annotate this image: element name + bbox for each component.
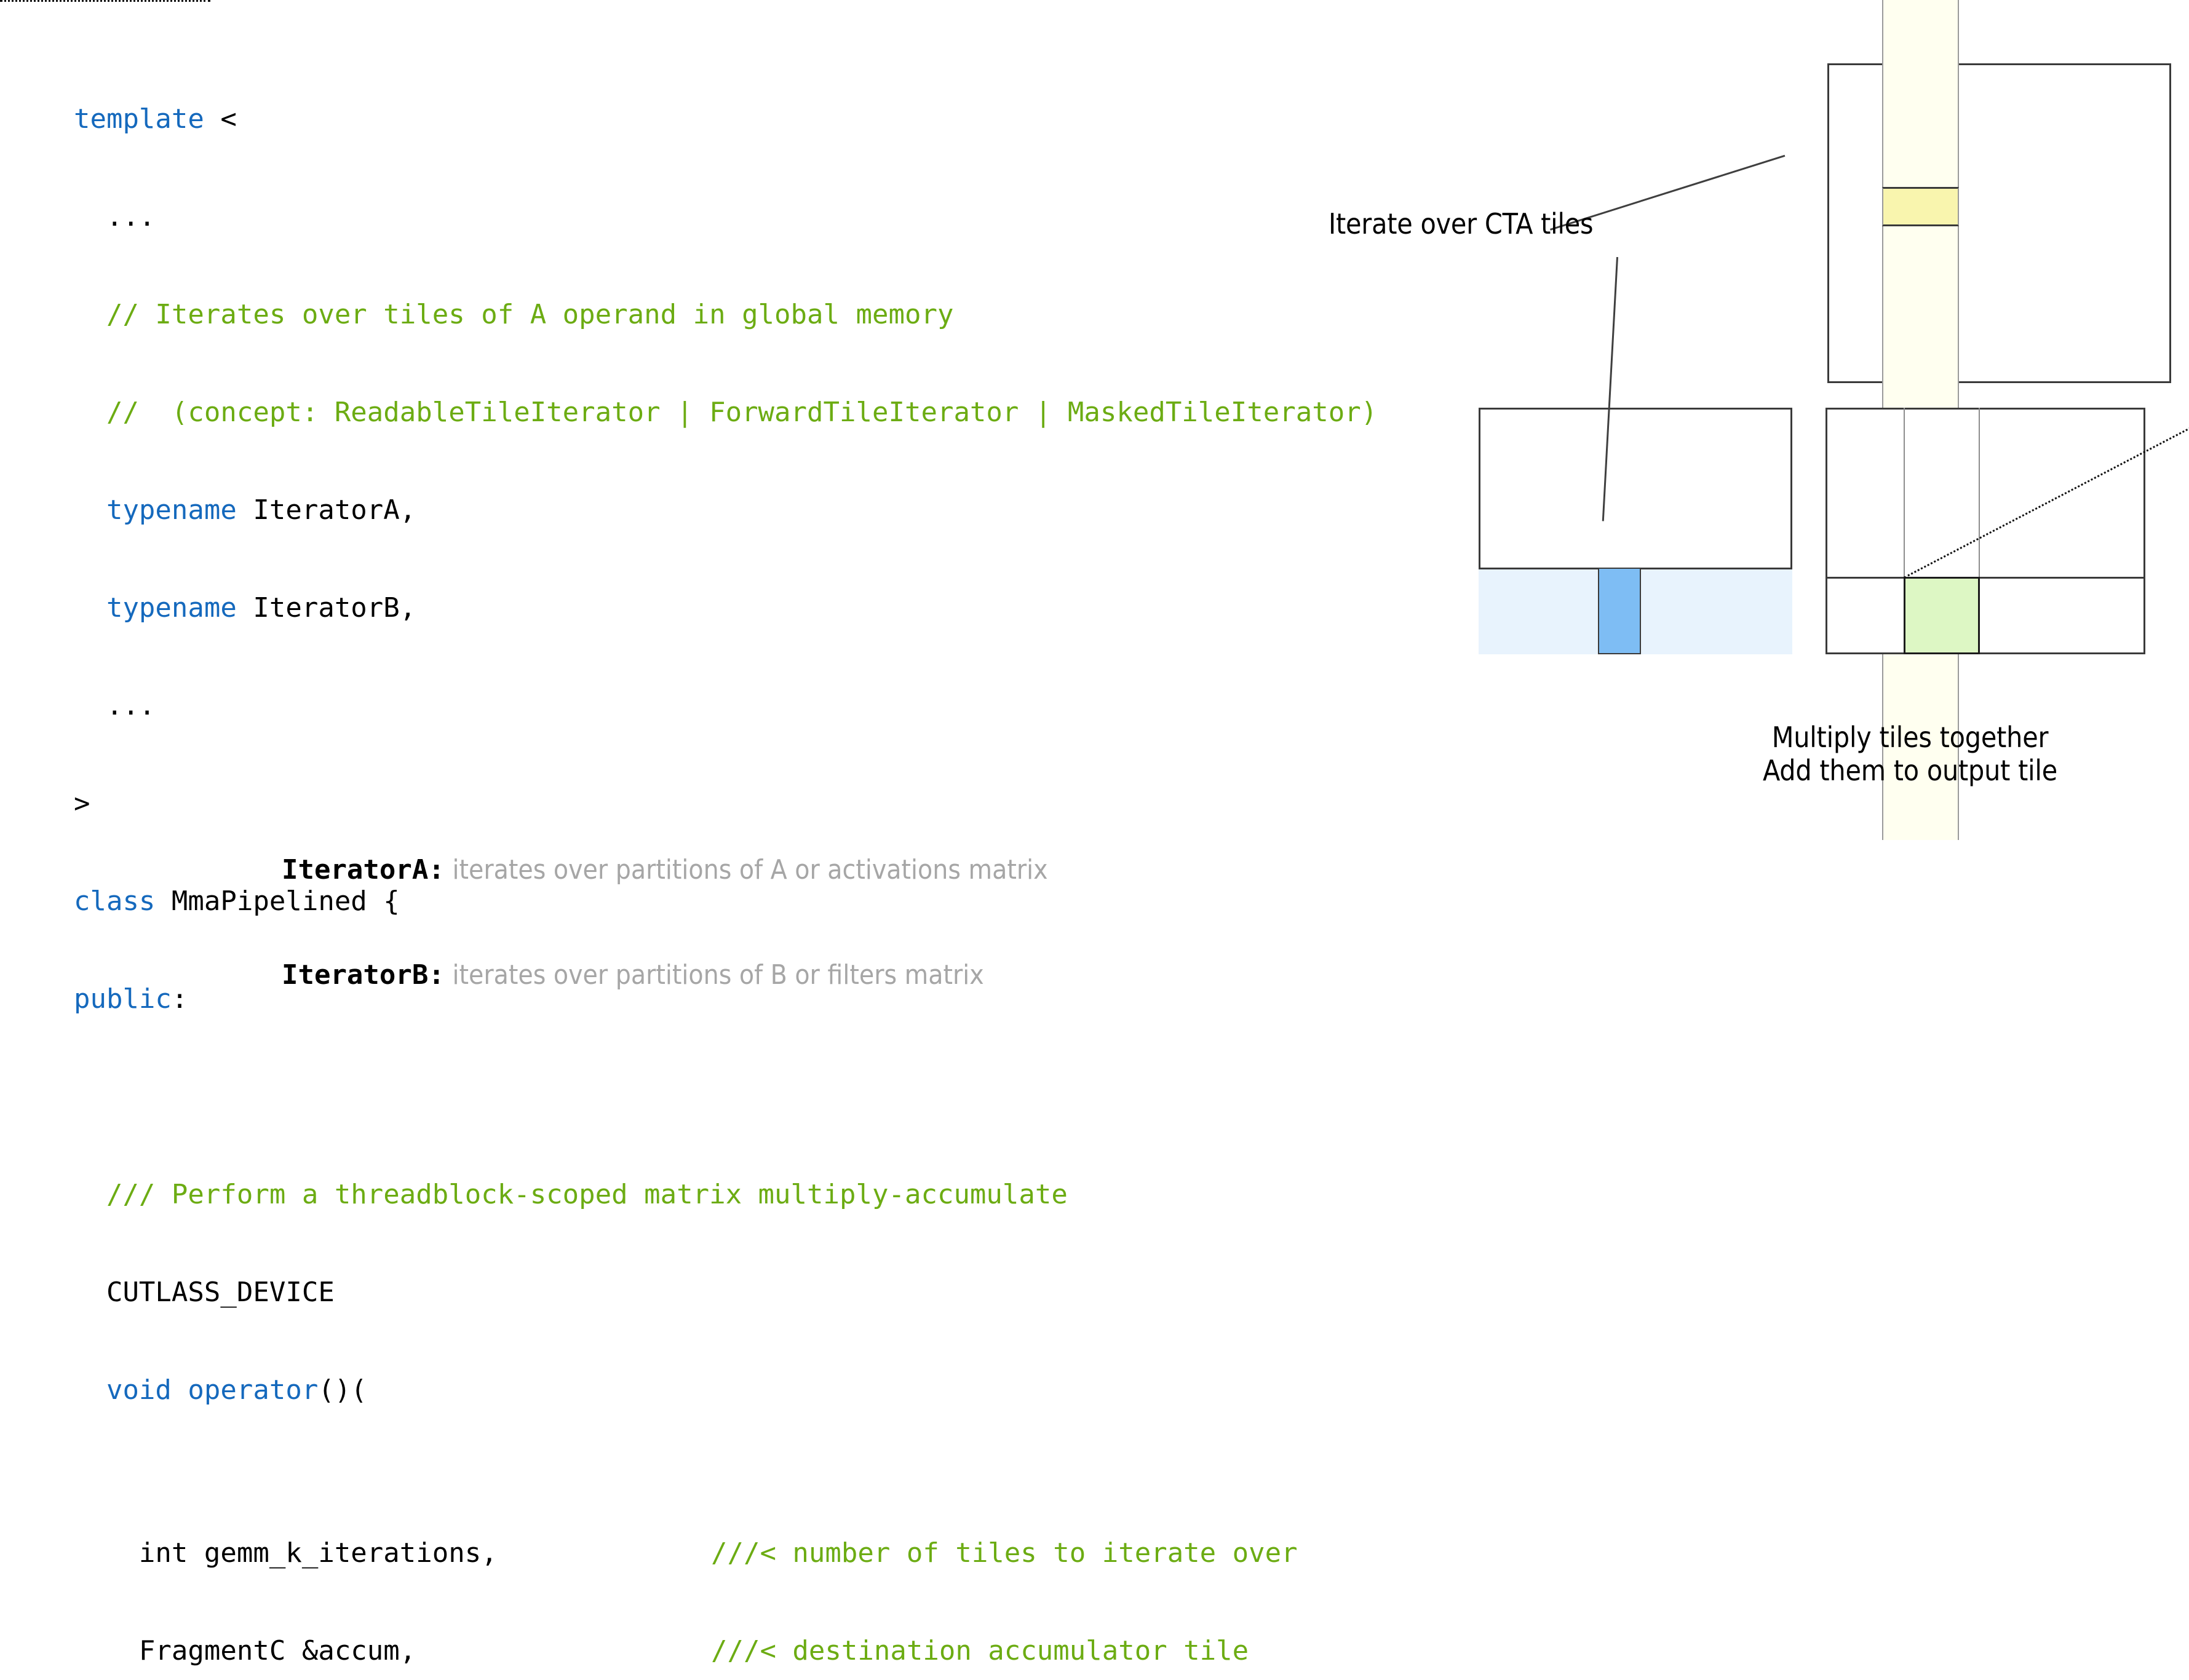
label-multiply-line-2: Add them to output tile	[1763, 754, 2057, 787]
output-active-tile	[1904, 577, 1980, 654]
code-token-keyword: public	[74, 983, 172, 1015]
code-token-plain: IteratorA,	[237, 494, 416, 526]
param-doc-comment: ///< destination accumulator tile	[711, 1634, 1249, 1667]
code-token-keyword: void operator	[106, 1374, 318, 1406]
code-token-plain	[74, 1374, 106, 1406]
legend-key: IteratorA:	[282, 854, 445, 886]
code-token-keyword: typename	[106, 592, 237, 624]
code-line: /// Perform a threadblock-scoped matrix …	[9, 1146, 1423, 1178]
output-matrix-gridline	[1904, 408, 1905, 654]
code-token-plain: :	[172, 983, 188, 1015]
legend-value: iterates over partitions of B or filters…	[445, 959, 984, 991]
code-token-plain: IteratorB,	[237, 592, 416, 624]
output-diagonal-dotted-line	[1904, 413, 2189, 579]
code-line-blank	[9, 1048, 1423, 1080]
code-token-keyword: template	[74, 103, 204, 135]
b-operand-matrix-outline	[1479, 408, 1792, 654]
code-line: CUTLASS_DEVICE	[9, 1243, 1423, 1276]
code-token-comment: // (concept: ReadableTileIterator | Forw…	[74, 397, 1377, 428]
code-token-keyword: class	[74, 886, 155, 917]
code-line: typename IteratorA,	[9, 461, 1423, 494]
output-matrix-outline	[1825, 408, 2145, 654]
param-doc-comment: ///< number of tiles to iterate over	[711, 1537, 1298, 1569]
legend-key: IteratorB:	[282, 959, 445, 991]
a-operand-active-tile	[1882, 187, 1959, 226]
b-operand-leader-line	[1602, 257, 1618, 521]
legend-row-iterator-a: IteratorA: iterates over partitions of A…	[217, 817, 1048, 852]
label-multiply-line-1: Multiply tiles together	[1763, 721, 2057, 754]
code-token-keyword: typename	[106, 494, 237, 526]
code-line: // Iterates over tiles of A operand in g…	[9, 266, 1423, 298]
param-declaration: int gemm_k_iterations,	[74, 1537, 711, 1569]
output-matrix-gridline	[1825, 577, 2145, 579]
code-line: void operator()(	[9, 1341, 1423, 1374]
output-bottom-dotted-line	[0, 0, 210, 2]
cta-leader-line	[1550, 155, 1785, 231]
code-line: typename IteratorB,	[9, 559, 1423, 592]
legend-value: iterates over partitions of A or activat…	[445, 854, 1048, 886]
code-token-plain	[74, 592, 106, 624]
param-declaration: FragmentC &accum,	[74, 1634, 711, 1667]
signature-param-row: FragmentC &accum,///< destination accumu…	[9, 1602, 1423, 1634]
label-multiply-tiles: Multiply tiles together Add them to outp…	[1763, 721, 2057, 787]
code-token-plain: <	[204, 103, 237, 135]
b-operand-active-tile	[1598, 568, 1641, 654]
b-operand-row-strip	[1479, 568, 1792, 654]
a-operand-column-strip	[1882, 0, 1959, 840]
code-token-plain: ...	[74, 690, 155, 721]
code-line: template <	[9, 70, 1423, 103]
code-token-plain: >	[74, 788, 90, 819]
code-token-comment: /// Perform a threadblock-scoped matrix …	[74, 1179, 1068, 1210]
signature-param-row: int gemm_k_iterations,///< number of til…	[9, 1504, 1423, 1537]
output-matrix-gridline	[1979, 408, 1980, 654]
code-token-plain: ()(	[318, 1374, 367, 1406]
code-line: ...	[9, 168, 1423, 200]
code-line: // (concept: ReadableTileIterator | Forw…	[9, 363, 1423, 396]
legend-row-iterator-b: IteratorB: iterates over partitions of B…	[217, 922, 1048, 957]
code-token-plain	[74, 494, 106, 526]
iterator-legend: IteratorA: iterates over partitions of A…	[217, 747, 1048, 993]
code-token-comment: // Iterates over tiles of A operand in g…	[74, 299, 953, 330]
code-token-plain: ...	[74, 201, 155, 232]
a-operand-matrix-outline	[1827, 63, 2171, 383]
code-line: ...	[9, 657, 1423, 689]
code-token-plain: CUTLASS_DEVICE	[74, 1277, 335, 1308]
